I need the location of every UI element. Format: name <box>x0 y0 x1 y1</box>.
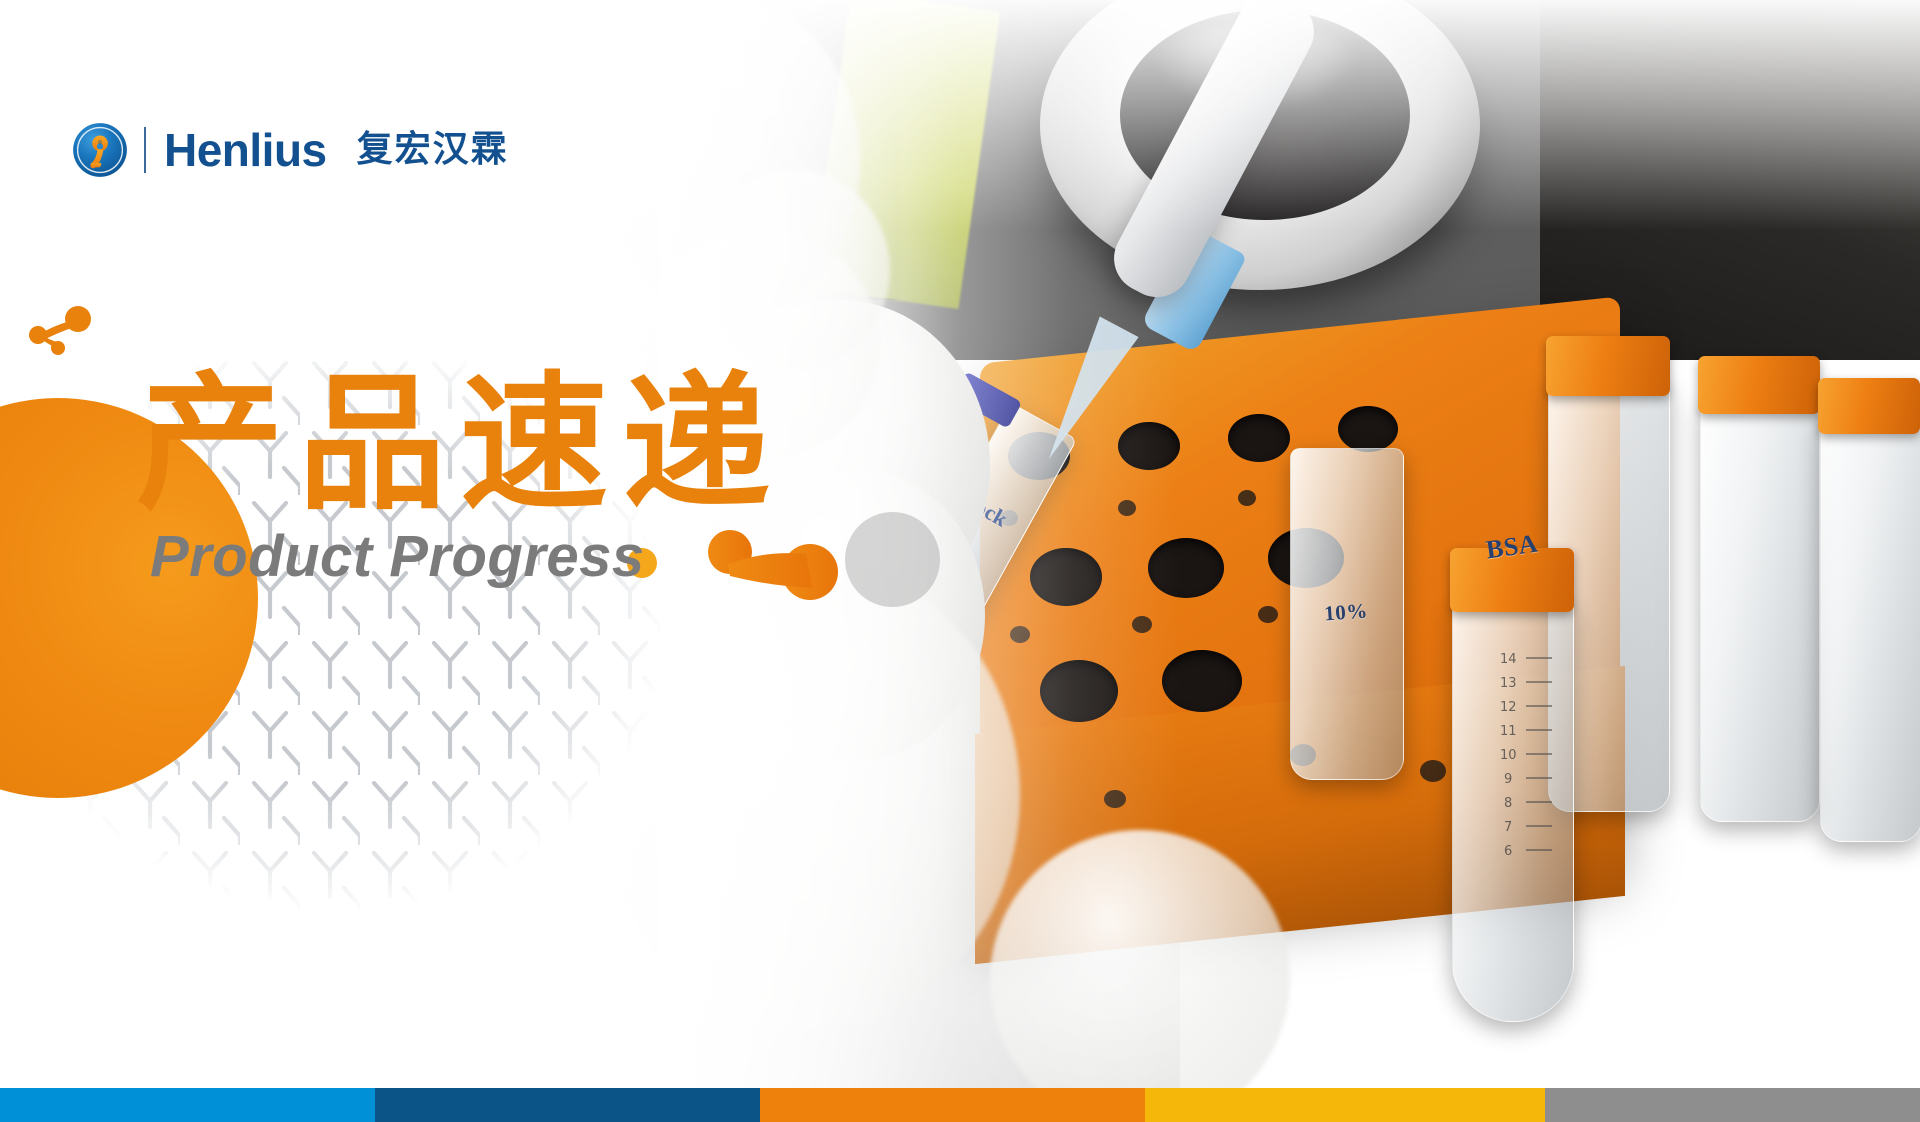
svg-text:6: 6 <box>1504 844 1512 859</box>
rack-peg <box>1238 490 1256 506</box>
bottom-bar-segment-gold <box>1145 1088 1545 1122</box>
svg-text:14: 14 <box>1500 652 1517 667</box>
page-subtitle-en: Product Progress <box>150 528 645 586</box>
svg-text:8: 8 <box>1504 796 1512 811</box>
photo-tube-cap <box>1818 378 1920 434</box>
svg-text:10: 10 <box>1500 748 1517 763</box>
bottom-bar-segment-light-blue <box>0 1088 375 1122</box>
bottom-bar-segment-dark-blue <box>375 1088 760 1122</box>
bottom-bar-segment-grey <box>1545 1088 1920 1122</box>
photo-tube-graduations: 141312 11109 876 <box>1452 640 1572 900</box>
henlius-circle-key-logo-icon <box>72 122 128 178</box>
photo-test-tube <box>1820 420 1920 842</box>
henlius-logo[interactable]: Henlius 复宏汉霖 <box>72 122 509 178</box>
svg-text:7: 7 <box>1504 820 1512 835</box>
bottom-color-bar <box>0 1088 1920 1122</box>
page-title-cn: 产品速递 <box>136 370 784 518</box>
molecule-dumbbell-small-icon <box>28 306 94 356</box>
rack-peg <box>1420 760 1446 782</box>
rack-peg <box>1258 606 1278 623</box>
logo-name-cn: 复宏汉霖 <box>357 132 509 168</box>
bottom-bar-segment-orange <box>760 1088 1145 1122</box>
molecule-dumbbell-large-icon <box>700 530 840 604</box>
rack-hole <box>1338 406 1398 452</box>
grey-dot-decoration <box>845 512 940 607</box>
rack-hole <box>1228 414 1290 462</box>
photo-tube-cap <box>1698 356 1820 414</box>
photo-test-tube <box>1700 400 1820 822</box>
svg-text:9: 9 <box>1504 772 1512 787</box>
svg-text:13: 13 <box>1500 676 1517 691</box>
logo-divider <box>144 127 146 173</box>
slide-canvas: 10% BSA 141312 11109 876 <box>0 0 1920 1122</box>
white-fade-top <box>0 0 1920 230</box>
svg-text:12: 12 <box>1500 700 1517 715</box>
logo-name-en: Henlius <box>164 127 327 173</box>
photo-tube-cap <box>1546 336 1670 396</box>
svg-text:11: 11 <box>1500 724 1517 739</box>
